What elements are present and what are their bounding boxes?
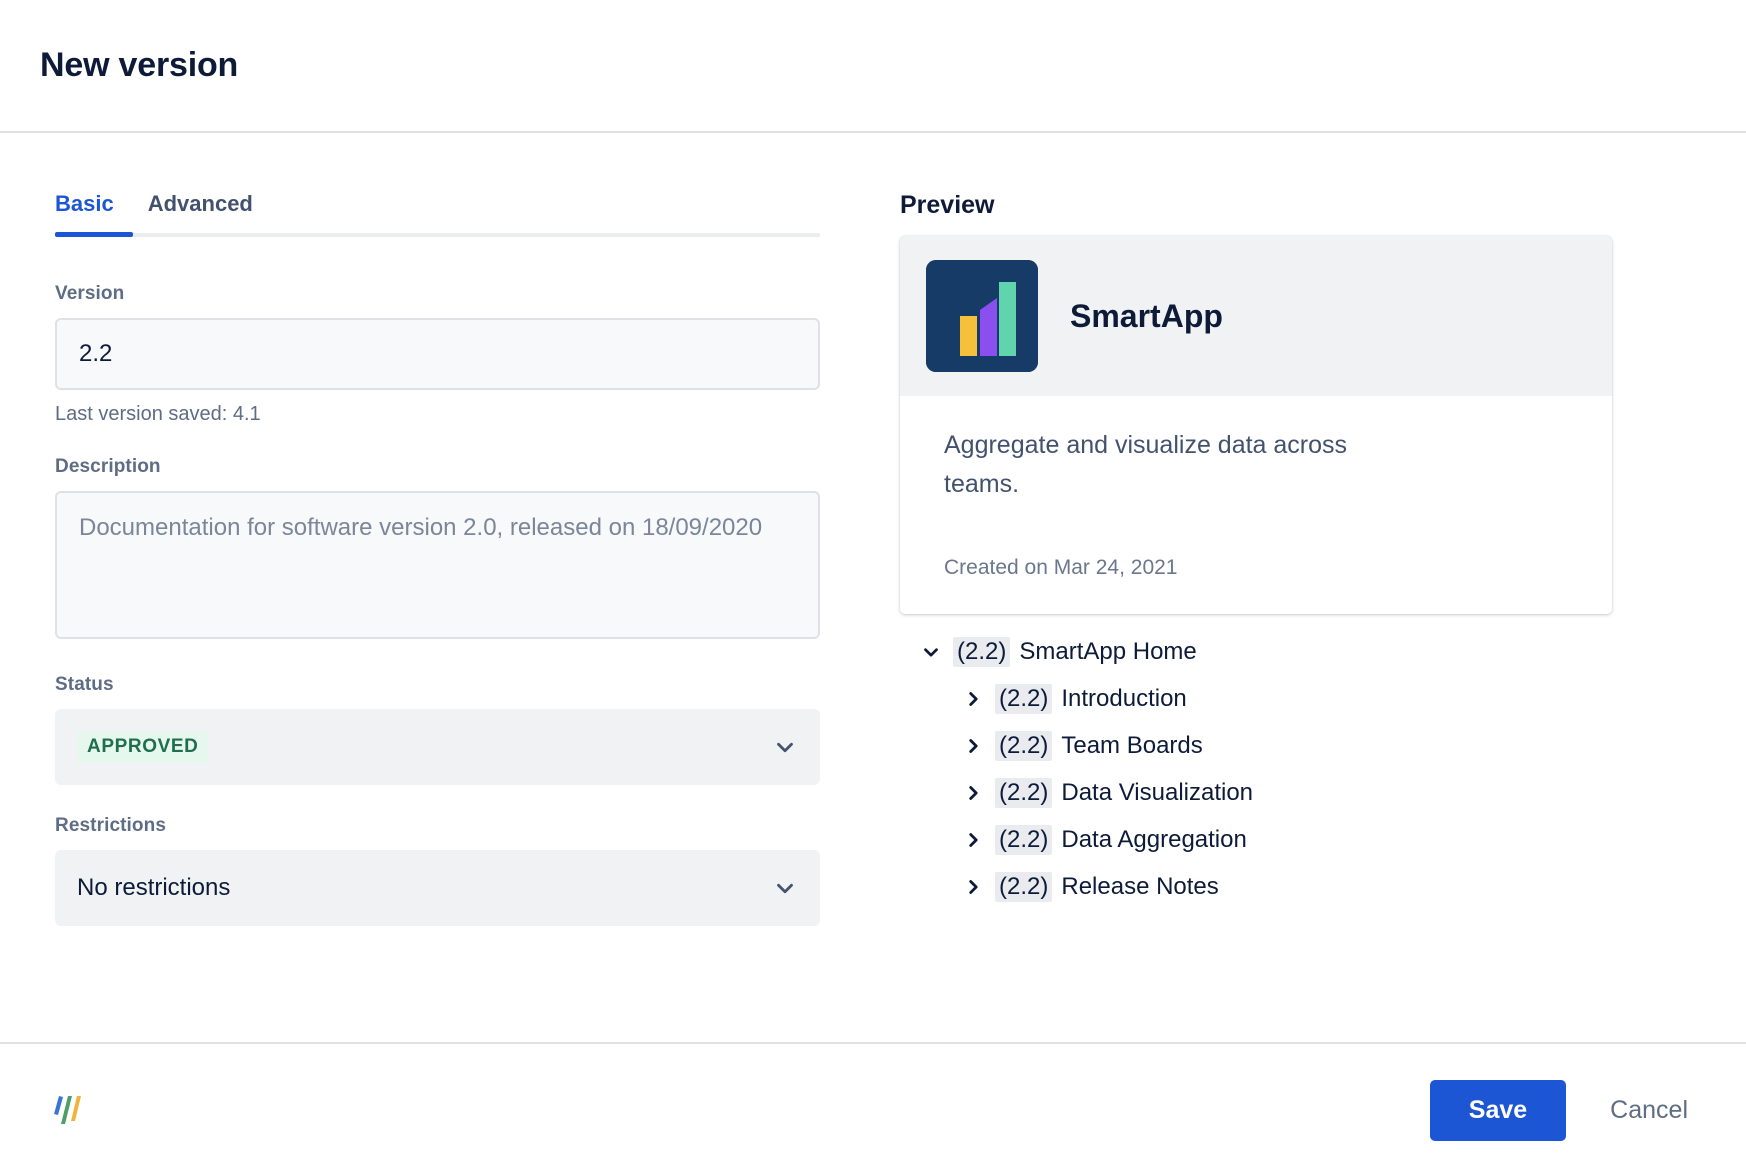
restrictions-field-group: Restrictions No restrictions xyxy=(55,815,860,926)
spacer xyxy=(55,644,860,674)
restrictions-value: No restrictions xyxy=(77,874,230,902)
chevron-down-icon[interactable] xyxy=(917,638,945,666)
tab-advanced[interactable]: Advanced xyxy=(148,193,253,237)
tree-row[interactable]: (2.2) SmartApp Home xyxy=(917,628,1710,675)
form-column: Basic Advanced Version Last version save… xyxy=(0,133,900,926)
last-version-saved-text: Last version saved: 4.1 xyxy=(55,403,860,426)
cancel-button[interactable]: Cancel xyxy=(1592,1080,1706,1141)
preview-column: Preview SmartApp Aggregate and visual xyxy=(900,133,1746,910)
tree-item-label: Release Notes xyxy=(1061,873,1218,901)
preview-app-name: SmartApp xyxy=(1070,298,1223,335)
tree-row[interactable]: (2.2) Introduction xyxy=(917,675,1710,722)
preview-card: SmartApp Aggregate and visualize data ac… xyxy=(900,236,1612,614)
version-field-group: Version Last version saved: 4.1 xyxy=(55,283,860,426)
status-label: Status xyxy=(55,674,860,696)
chevron-right-icon[interactable] xyxy=(959,685,987,713)
preview-heading: Preview xyxy=(900,191,1710,220)
bar-chart-app-icon xyxy=(926,260,1038,372)
tree-row[interactable]: (2.2) Release Notes xyxy=(917,863,1710,910)
chevron-right-icon[interactable] xyxy=(959,826,987,854)
tree-version-badge: (2.2) xyxy=(995,778,1052,808)
page-tree: (2.2) SmartApp Home (2.2) Introduction xyxy=(900,628,1710,910)
restrictions-select[interactable]: No restrictions xyxy=(55,850,820,926)
spacer xyxy=(55,785,860,815)
tree-item-label: SmartApp Home xyxy=(1019,638,1196,666)
dialog-body: Basic Advanced Version Last version save… xyxy=(0,133,1746,1044)
page-title: New version xyxy=(40,46,238,85)
chevron-down-icon xyxy=(772,875,798,901)
version-input[interactable] xyxy=(55,318,820,390)
description-field-group: Description xyxy=(55,456,860,644)
tree-item-label: Introduction xyxy=(1061,685,1186,713)
tree-row[interactable]: (2.2) Data Aggregation xyxy=(917,816,1710,863)
tree-row[interactable]: (2.2) Data Visualization xyxy=(917,769,1710,816)
version-label: Version xyxy=(55,283,860,305)
footer-actions: Save Cancel xyxy=(1430,1080,1706,1141)
description-textarea[interactable] xyxy=(55,491,820,639)
preview-created-date: Created on Mar 24, 2021 xyxy=(944,556,1568,580)
preview-card-header: SmartApp xyxy=(900,236,1612,396)
save-button[interactable]: Save xyxy=(1430,1080,1566,1141)
dialog-footer: Save Cancel xyxy=(0,1044,1746,1176)
tree-row[interactable]: (2.2) Team Boards xyxy=(917,722,1710,769)
tree-version-badge: (2.2) xyxy=(995,731,1052,761)
chevron-right-icon[interactable] xyxy=(959,873,987,901)
preview-description: Aggregate and visualize data across team… xyxy=(944,426,1424,504)
tree-version-badge: (2.2) xyxy=(995,872,1052,902)
three-slash-brand-logo xyxy=(48,1090,82,1130)
tree-item-label: Team Boards xyxy=(1061,732,1202,760)
tree-item-label: Data Visualization xyxy=(1061,779,1253,807)
tree-version-badge: (2.2) xyxy=(995,684,1052,714)
dialog-header: New version xyxy=(0,0,1746,133)
tab-underline-track xyxy=(55,233,820,237)
description-label: Description xyxy=(55,456,860,478)
chevron-down-icon xyxy=(772,734,798,760)
new-version-dialog: New version Basic Advanced Version Last … xyxy=(0,0,1746,1176)
chevron-right-icon[interactable] xyxy=(959,779,987,807)
tab-active-indicator xyxy=(55,232,133,237)
tab-basic[interactable]: Basic xyxy=(55,193,114,237)
tab-bar: Basic Advanced xyxy=(55,193,820,237)
preview-card-body: Aggregate and visualize data across team… xyxy=(900,396,1612,614)
chevron-right-icon[interactable] xyxy=(959,732,987,760)
status-field-group: Status APPROVED xyxy=(55,674,860,785)
tree-version-badge: (2.2) xyxy=(995,825,1052,855)
restrictions-label: Restrictions xyxy=(55,815,860,837)
status-select[interactable]: APPROVED xyxy=(55,709,820,785)
status-badge: APPROVED xyxy=(77,731,208,763)
tree-item-label: Data Aggregation xyxy=(1061,826,1246,854)
tree-version-badge: (2.2) xyxy=(953,637,1010,667)
